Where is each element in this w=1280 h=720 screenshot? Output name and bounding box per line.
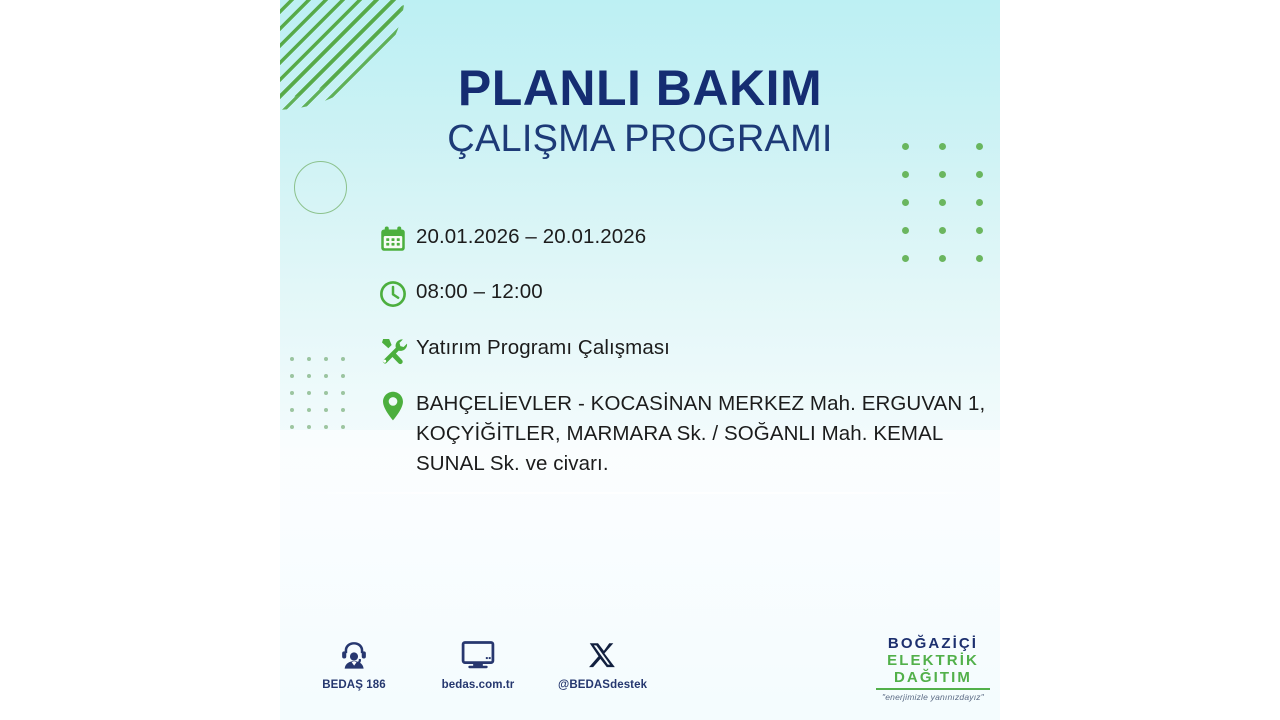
time-range-text: 08:00 – 12:00 [416, 277, 988, 303]
decorative-dot [324, 391, 328, 395]
page-title: PLANLI BAKIM [280, 62, 1000, 115]
decorative-dot [324, 357, 328, 361]
detail-row-time: 08:00 – 12:00 [378, 277, 988, 311]
decorative-dot [290, 408, 294, 412]
decorative-dot [290, 391, 294, 395]
detail-row-date: 20.01.2026 – 20.01.2026 [378, 222, 988, 256]
contact-website-label: bedas.com.tr [434, 679, 522, 691]
decorative-dot [976, 171, 983, 178]
brand-divider [876, 688, 990, 690]
x-twitter-icon [558, 636, 646, 674]
circle-outline-decoration [294, 161, 347, 214]
decorative-dot [902, 171, 909, 178]
brand-line-1: BOĞAZİÇİ [876, 636, 990, 653]
decorative-dot [341, 408, 345, 412]
detail-row-work-type: Yatırım Programı Çalışması [378, 333, 988, 367]
decorative-dot [307, 374, 311, 378]
decorative-dot [307, 391, 311, 395]
decorative-dot [307, 357, 311, 361]
decorative-dot [976, 199, 983, 206]
brand-line-2: ELEKTRİK [876, 653, 990, 670]
decorative-dot [307, 425, 311, 429]
decorative-dot [324, 425, 328, 429]
contact-call-center-label: BEDAŞ 186 [310, 679, 398, 691]
location-text: BAHÇELİEVLER - KOCASİNAN MERKEZ Mah. ERG… [416, 387, 988, 479]
date-range-text: 20.01.2026 – 20.01.2026 [416, 222, 988, 248]
dot-grid-decoration-left [290, 357, 358, 442]
decorative-dot [324, 408, 328, 412]
decorative-dot [341, 425, 345, 429]
decorative-dot [341, 357, 345, 361]
headset-support-icon [310, 636, 398, 674]
detail-row-location: BAHÇELİEVLER - KOCASİNAN MERKEZ Mah. ERG… [378, 387, 988, 479]
maintenance-notice-poster: PLANLI BAKIM ÇALIŞMA PROGRAMI [280, 0, 1000, 720]
contact-call-center[interactable]: BEDAŞ 186 [310, 636, 398, 691]
brand-line-3: DAĞITIM [876, 670, 990, 687]
screenshot-root: PLANLI BAKIM ÇALIŞMA PROGRAMI [0, 0, 1280, 720]
clock-icon [378, 277, 416, 311]
footer-contact-channels: BEDAŞ 186 bedas.com.tr [310, 636, 646, 691]
decorative-dot [939, 199, 946, 206]
tools-icon [378, 333, 416, 367]
calendar-icon [378, 222, 416, 256]
page-subtitle: ÇALIŞMA PROGRAMI [280, 119, 1000, 161]
notice-details-list: 20.01.2026 – 20.01.2026 08:00 – 12:00 [378, 222, 988, 497]
decorative-dot [290, 374, 294, 378]
decorative-dot [290, 425, 294, 429]
contact-x-account[interactable]: @BEDASdestek [558, 636, 646, 691]
work-type-text: Yatırım Programı Çalışması [416, 333, 988, 359]
contact-website[interactable]: bedas.com.tr [434, 636, 522, 691]
decorative-dot [324, 374, 328, 378]
decorative-dot [939, 171, 946, 178]
decorative-dot [307, 408, 311, 412]
decorative-dot [341, 374, 345, 378]
poster-heading-block: PLANLI BAKIM ÇALIŞMA PROGRAMI [280, 62, 1000, 161]
decorative-dot [290, 357, 294, 361]
map-pin-icon [378, 387, 416, 423]
brand-logo: BOĞAZİÇİ ELEKTRİK DAĞITIM "enerjimizle y… [876, 636, 990, 702]
decorative-dot [902, 199, 909, 206]
decorative-dot [341, 391, 345, 395]
contact-x-label: @BEDASdestek [558, 679, 646, 691]
monitor-icon [434, 636, 522, 674]
brand-tagline: "enerjimizle yanınızdayız" [876, 692, 990, 702]
